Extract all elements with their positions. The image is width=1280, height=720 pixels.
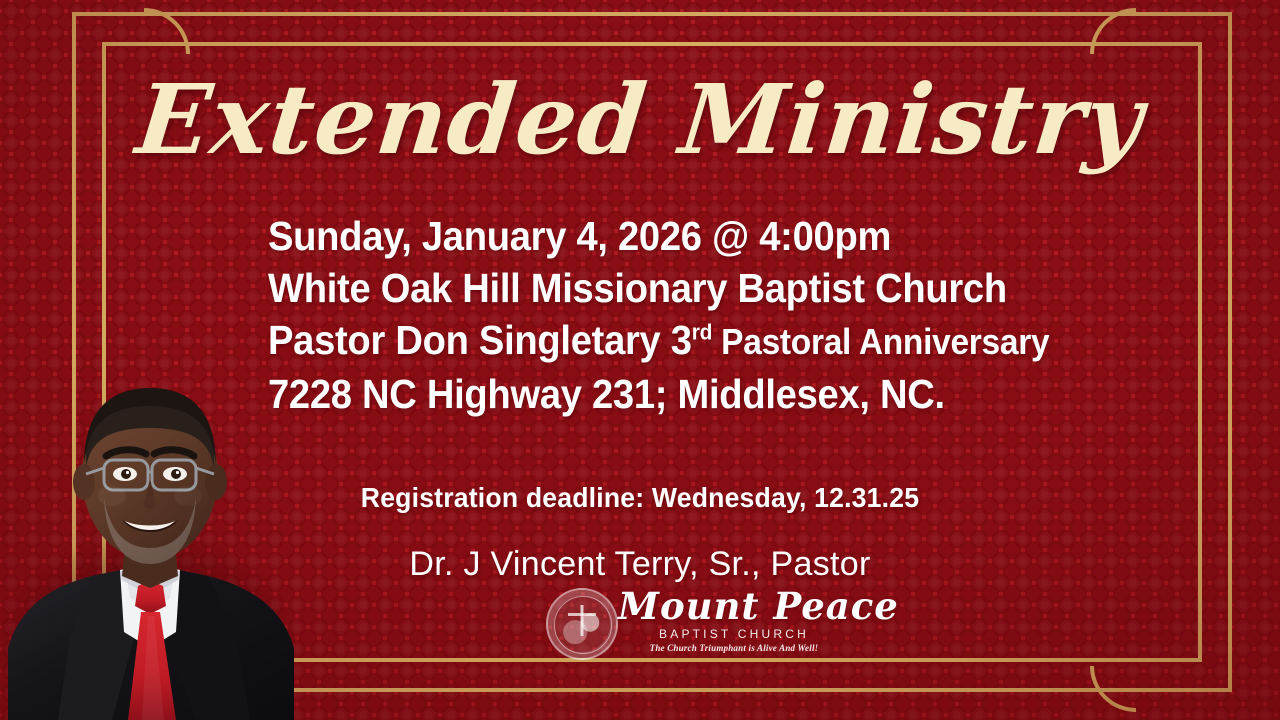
- church-name-subtitle: BAPTIST CHURCH: [618, 627, 850, 641]
- cross-icon: [581, 605, 584, 636]
- church-tagline: The Church Triumphant is Alive And Well!: [618, 643, 850, 653]
- anniversary-prefix: Pastor Don Singletary: [268, 317, 671, 363]
- host-pastor-name: Dr. J Vincent Terry, Sr., Pastor: [0, 545, 1280, 584]
- church-name-script: Mount Peace: [618, 586, 850, 626]
- flyer-content: Extended Ministry Sunday, January 4, 202…: [0, 0, 1280, 720]
- registration-deadline: Registration deadline: Wednesday, 12.31.…: [32, 482, 1248, 514]
- event-info-block: Sunday, January 4, 2026 @ 4:00pm White O…: [268, 210, 1168, 420]
- church-wordmark: Mount Peace BAPTIST CHURCH The Church Tr…: [618, 586, 850, 653]
- event-address-line: 7228 NC Highway 231; Middlesex, NC.: [268, 368, 1105, 420]
- cross-bar-icon: [568, 613, 595, 616]
- anniversary-ordinal-suffix: rd: [692, 319, 712, 344]
- event-date-time-line: Sunday, January 4, 2026 @ 4:00pm: [268, 210, 1105, 262]
- anniversary-ordinal-number: 3: [671, 317, 692, 363]
- event-venue-line: White Oak Hill Missionary Baptist Church: [268, 262, 1105, 314]
- event-anniversary-line: Pastor Don Singletary 3rd Pastoral Anniv…: [268, 314, 1105, 368]
- church-logo: Mount Peace BAPTIST CHURCH The Church Tr…: [540, 586, 850, 662]
- flyer-canvas: Extended Ministry Sunday, January 4, 202…: [0, 0, 1280, 720]
- church-seal-icon: [546, 588, 618, 660]
- flyer-title: Extended Ministry: [0, 72, 1280, 168]
- anniversary-suffix: Pastoral Anniversary: [712, 321, 1049, 362]
